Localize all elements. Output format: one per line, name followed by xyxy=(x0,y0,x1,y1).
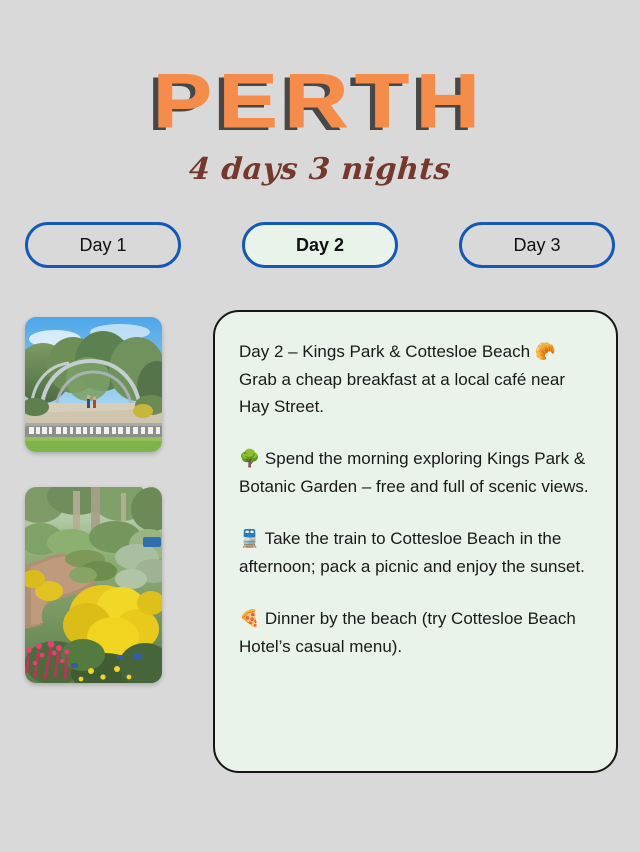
itinerary-paragraph: Day 2 – Kings Park & Cottesloe Beach 🥐 G… xyxy=(239,338,592,420)
paragraph-text: Grab a cheap breakfast at a local café n… xyxy=(239,370,565,416)
paragraph-text: Dinner by the beach (try Cottesloe Beach… xyxy=(239,609,576,656)
page-title: PERTH xyxy=(153,64,487,140)
itinerary-card: Day 2 – Kings Park & Cottesloe Beach 🥐 G… xyxy=(213,310,618,773)
botanic-garden-wildflowers-photo xyxy=(25,487,162,683)
tree-icon: 🌳 xyxy=(239,449,260,469)
day-tabs: Day 1 Day 2 Day 3 xyxy=(25,222,615,268)
itinerary-paragraph: 🌳 Spend the morning exploring Kings Park… xyxy=(239,445,592,500)
page-title-container: PERTH xyxy=(0,64,640,140)
itinerary-card-body: Day 2 – Kings Park & Cottesloe Beach 🥐 G… xyxy=(239,338,592,660)
tab-day-2-label: Day 2 xyxy=(296,236,344,254)
page-subtitle: 4 days 3 nights xyxy=(188,152,453,188)
itinerary-paragraph: 🚆 Take the train to Cottesloe Beach in t… xyxy=(239,525,592,580)
train-icon: 🚆 xyxy=(239,529,260,549)
pizza-icon: 🍕 xyxy=(239,609,260,629)
tab-day-1[interactable]: Day 1 xyxy=(25,222,181,268)
tab-day-2[interactable]: Day 2 xyxy=(242,222,398,268)
paragraph-text: Spend the morning exploring Kings Park &… xyxy=(239,449,589,496)
paragraph-text: Day 2 – Kings Park & Cottesloe Beach xyxy=(239,342,530,361)
page-subtitle-container: 4 days 3 nights xyxy=(0,152,640,188)
itinerary-paragraph: 🍕 Dinner by the beach (try Cottesloe Bea… xyxy=(239,605,592,660)
tab-day-3[interactable]: Day 3 xyxy=(459,222,615,268)
tab-day-1-label: Day 1 xyxy=(79,236,126,254)
tab-day-3-label: Day 3 xyxy=(513,236,560,254)
kings-park-entrance-photo xyxy=(25,317,162,452)
paragraph-text: Take the train to Cottesloe Beach in the… xyxy=(239,529,585,576)
croissant-icon: 🥐 xyxy=(535,342,556,362)
